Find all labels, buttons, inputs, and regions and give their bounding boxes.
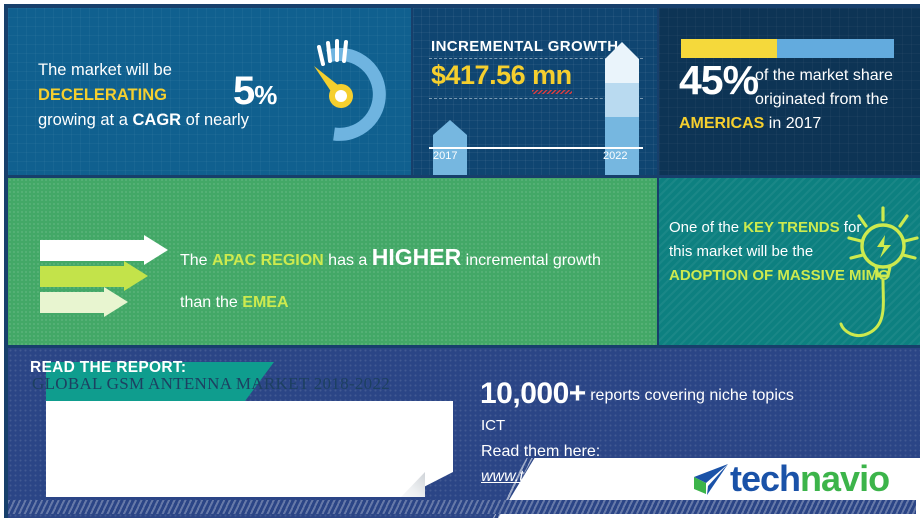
apac-highlight-region: APAC REGION <box>212 252 324 269</box>
infographic-root: The market will be DECELERATING growing … <box>0 0 924 522</box>
cagr-panel: The market will be DECELERATING growing … <box>8 8 411 175</box>
apac-text-4: than the <box>180 294 242 311</box>
speedometer-gauge-icon <box>298 34 403 152</box>
arrow-pale-green <box>40 292 128 313</box>
cagr-highlight-cagr: CAGR <box>132 111 181 129</box>
reports-count-number: 10,000+ <box>480 377 586 410</box>
market-share-bar <box>681 39 894 58</box>
logo-text-tech: tech <box>730 458 800 499</box>
chart-axis <box>429 147 643 149</box>
incremental-growth-value: $417.56 mn <box>431 60 572 91</box>
share-line-3: in 2017 <box>764 115 821 132</box>
apac-text-1: The <box>180 252 212 269</box>
cagr-value: 5% <box>233 71 276 115</box>
trend-text-1: One of the <box>669 219 743 236</box>
market-share-text-top: of the market share originated from the <box>755 64 924 112</box>
apac-emphasis-higher: HIGHER <box>372 244 461 270</box>
reports-count-text: reports covering niche topics <box>586 387 794 404</box>
cagr-number: 5 <box>233 69 254 113</box>
share-line-2: originated from the <box>755 91 888 108</box>
apac-region-panel: The APAC REGION has a HIGHER incremental… <box>8 178 657 345</box>
apac-highlight-emea: EMEA <box>242 294 288 311</box>
market-share-text-bottom: AMERICAS in 2017 <box>679 112 919 136</box>
market-share-panel: 45% of the market share originated from … <box>659 8 924 175</box>
reports-count-line: 10,000+ reports covering niche topics <box>480 377 794 411</box>
cagr-text-2: growing at a <box>38 111 132 129</box>
market-share-bar-fill <box>681 39 777 58</box>
apac-text-2: has a <box>324 252 372 269</box>
growth-amount: $417.56 <box>431 60 525 90</box>
logo-text-navio: navio <box>800 458 889 499</box>
axis-label-2017: 2017 <box>433 150 457 162</box>
trend-text-3: this market will be the <box>669 243 813 260</box>
report-card[interactable] <box>46 401 453 497</box>
incremental-growth-panel: INCREMENTAL GROWTH $417.56 mn 2017 2022 <box>413 8 657 175</box>
arrow-white <box>40 240 168 261</box>
arrow-lime <box>40 266 148 287</box>
report-title: GLOBAL GSM ANTENNA MARKET 2018-2022 <box>32 374 390 394</box>
technavio-logo[interactable]: technavio <box>684 454 904 504</box>
market-share-percent: 45% <box>679 60 758 101</box>
paper-plane-icon <box>684 459 730 499</box>
axis-label-2022: 2022 <box>603 150 627 162</box>
technavio-wordmark: technavio <box>730 461 889 497</box>
share-region-highlight: AMERICAS <box>679 115 764 132</box>
apac-text-3: incremental growth <box>461 252 601 269</box>
key-trends-panel: One of the KEY TRENDS for this market wi… <box>659 178 924 345</box>
sector-label: ICT <box>481 417 505 434</box>
apac-statement: The APAC REGION has a HIGHER incremental… <box>180 236 630 324</box>
share-line-1: of the market share <box>755 67 893 84</box>
cagr-text-1: The market will be <box>38 61 172 79</box>
growth-unit: mn <box>532 60 572 91</box>
incremental-growth-title: INCREMENTAL GROWTH <box>431 38 618 55</box>
cagr-highlight-decelerating: DECELERATING <box>38 86 167 104</box>
lightbulb-idea-icon <box>821 200 924 345</box>
footer-stripe <box>8 500 916 514</box>
cagr-percent-sign: % <box>254 80 276 110</box>
